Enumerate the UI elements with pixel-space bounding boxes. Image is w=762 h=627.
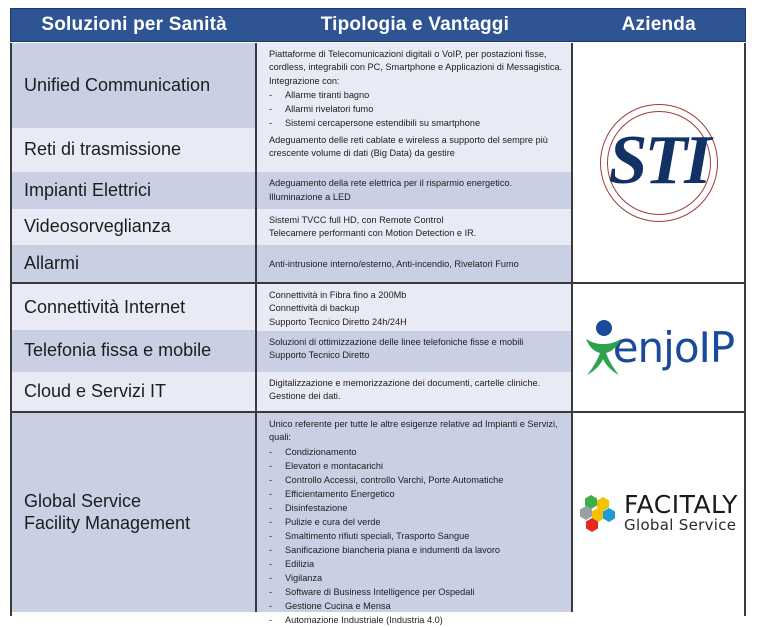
table-page: Soluzioni per Sanità Tipologia e Vantagg… — [0, 0, 762, 616]
description-column-enjoip: Connettività in Fibra fino a 200Mb Conne… — [257, 284, 573, 411]
description-text: Connettività in Fibra fino a 200Mb — [269, 289, 563, 302]
bullet-dash: - — [269, 586, 285, 600]
enjoip-logo-text: enjoIP — [613, 327, 735, 369]
description-telefonia-fissa-e-mobile: Soluzioni di ottimizzazione delle linee … — [257, 331, 571, 372]
header-cell-soluzioni: Soluzioni per Sanità — [11, 9, 257, 41]
table-group-sti: Unified Communication Reti di trasmissio… — [12, 43, 744, 284]
facitaly-subtitle: Global Service — [624, 518, 738, 533]
description-videosorveglianza: Sistemi TVCC full HD, con Remote Control… — [257, 209, 571, 246]
table-body: Unified Communication Reti di trasmissio… — [10, 43, 746, 616]
bullet-dash: - — [269, 516, 285, 530]
description-text: Supporto Tecnico Diretto — [269, 349, 563, 362]
table-header-row: Soluzioni per Sanità Tipologia e Vantagg… — [10, 8, 746, 42]
solutions-column-enjoip: Connettività Internet Telefonia fissa e … — [12, 284, 257, 411]
bullet-dash: - — [269, 89, 285, 103]
list-item: -Disinfestazione — [269, 502, 563, 516]
bullet-dash: - — [269, 103, 285, 117]
description-connettivita-internet: Connettività in Fibra fino a 200Mb Conne… — [257, 284, 571, 331]
solution-allarmi[interactable]: Allarmi — [12, 245, 255, 282]
bullet-dash: - — [269, 530, 285, 544]
description-text: Unico referente per tutte le altre esige… — [269, 418, 563, 445]
list-item: -Allarmi rivelatori fumo — [269, 103, 563, 117]
list-item: -Vigilanza — [269, 572, 563, 586]
list-item-label: Allarme tiranti bagno — [285, 89, 369, 103]
description-column-facitaly: Unico referente per tutte le altre esige… — [257, 413, 573, 612]
sti-logo-text: STI — [600, 104, 718, 222]
description-text: Gestione dei dati. — [269, 390, 563, 403]
list-item: -Sanificazione biancheria piana e indume… — [269, 544, 563, 558]
description-reti-di-trasmissione: Adeguamento delle reti cablate e wireles… — [257, 129, 571, 172]
description-text: Anti-intrusione interno/esterno, Anti-in… — [269, 258, 563, 271]
list-item: -Controllo Accessi, controllo Varchi, Po… — [269, 474, 563, 488]
solution-line-1: Global Service — [24, 491, 190, 512]
description-global-service: Unico referente per tutte le altre esige… — [257, 413, 571, 612]
list-item: -Edilizia — [269, 558, 563, 572]
list-item-label: Software di Business Intelligence per Os… — [285, 586, 474, 600]
solution-line-2: Facility Management — [24, 513, 190, 534]
list-item: -Software di Business Intelligence per O… — [269, 586, 563, 600]
list-item: -Efficientamento Energetico — [269, 488, 563, 502]
company-cell-enjoip: enjoIP — [573, 284, 744, 411]
list-item: -Smaltimento rifiuti speciali, Trasporto… — [269, 530, 563, 544]
solutions-column-sti: Unified Communication Reti di trasmissio… — [12, 43, 257, 282]
solution-connettivita-internet[interactable]: Connettività Internet — [12, 284, 255, 330]
list-item-label: Controllo Accessi, controllo Varchi, Por… — [285, 474, 503, 488]
description-text: Sistemi TVCC full HD, con Remote Control — [269, 214, 563, 227]
list-item-label: Gestione Cucina e Mensa — [285, 600, 391, 614]
bullet-dash: - — [269, 474, 285, 488]
bullet-dash: - — [269, 558, 285, 572]
bullet-dash: - — [269, 460, 285, 474]
description-bullet-list: -Allarme tiranti bagno -Allarmi rivelato… — [269, 89, 563, 131]
solutions-column-facitaly: Global Service Facility Management — [12, 413, 257, 612]
solution-videosorveglianza[interactable]: Videosorveglianza — [12, 209, 255, 246]
facitaly-hex-svg — [579, 494, 617, 532]
description-text: Adeguamento della rete elettrica per il … — [269, 177, 563, 204]
company-cell-sti: STI — [573, 43, 744, 282]
list-item: -Condizionamento — [269, 446, 563, 460]
bullet-dash: - — [269, 488, 285, 502]
list-item-label: Condizionamento — [285, 446, 357, 460]
solution-impianti-elettrici[interactable]: Impianti Elettrici — [12, 172, 255, 209]
description-bullet-list: -Condizionamento -Elevatori e montacaric… — [269, 446, 563, 627]
list-item: -Elevatori e montacarichi — [269, 460, 563, 474]
list-item-label: Edilizia — [285, 558, 314, 572]
table-group-enjoip: Connettività Internet Telefonia fissa e … — [12, 284, 744, 413]
bullet-dash: - — [269, 502, 285, 516]
facitaly-logo: FACITALY Global Service — [579, 492, 738, 533]
description-text: Soluzioni di ottimizzazione delle linee … — [269, 336, 563, 349]
description-allarmi: Anti-intrusione interno/esterno, Anti-in… — [257, 245, 571, 282]
list-item-label: Efficientamento Energetico — [285, 488, 395, 502]
description-unified-communication: Piattaforme di Telecomunicazioni digital… — [257, 43, 571, 129]
table-group-facitaly: Global Service Facility Management Unico… — [12, 413, 744, 612]
enjoip-person-svg — [583, 319, 623, 377]
list-item: -Pulizie e cura del verde — [269, 516, 563, 530]
solution-global-service-facility-management[interactable]: Global Service Facility Management — [12, 413, 255, 612]
description-column-sti: Piattaforme di Telecomunicazioni digital… — [257, 43, 573, 282]
header-cell-tipologia: Tipologia e Vantaggi — [257, 9, 572, 41]
list-item-label: Elevatori e montacarichi — [285, 460, 383, 474]
description-text: Telecamere performanti con Motion Detect… — [269, 227, 563, 240]
company-cell-facitaly: FACITALY Global Service — [573, 413, 744, 612]
solution-unified-communication[interactable]: Unified Communication — [12, 43, 255, 128]
sti-logo: STI — [600, 104, 718, 222]
solution-telefonia-fissa-e-mobile[interactable]: Telefonia fissa e mobile — [12, 330, 255, 371]
list-item-label: Disinfestazione — [285, 502, 347, 516]
list-item-label: Vigilanza — [285, 572, 322, 586]
description-text: Piattaforme di Telecomunicazioni digital… — [269, 48, 563, 88]
solution-cloud-e-servizi-it[interactable]: Cloud e Servizi IT — [12, 372, 255, 411]
enjoip-logo: enjoIP — [583, 317, 735, 379]
enjoip-person-icon — [583, 319, 623, 377]
facitaly-title: FACITALY — [624, 492, 738, 517]
bullet-dash: - — [269, 572, 285, 586]
list-item-label: Pulizie e cura del verde — [285, 516, 381, 530]
facitaly-logo-text: FACITALY Global Service — [624, 492, 738, 533]
bullet-dash: - — [269, 600, 285, 614]
description-cloud-e-servizi-it: Digitalizzazione e memorizzazione dei do… — [257, 372, 571, 411]
description-text: Adeguamento delle reti cablate e wireles… — [269, 134, 563, 161]
list-item: -Gestione Cucina e Mensa — [269, 600, 563, 614]
description-impianti-elettrici: Adeguamento della rete elettrica per il … — [257, 172, 571, 209]
list-item-label: Sanificazione biancheria piana e indumen… — [285, 544, 500, 558]
list-item-label: Smaltimento rifiuti speciali, Trasporto … — [285, 530, 469, 544]
facitaly-hexagon-cluster-icon — [579, 494, 617, 532]
solution-reti-di-trasmissione[interactable]: Reti di trasmissione — [12, 128, 255, 172]
description-text: Supporto Tecnico Diretto 24h/24H — [269, 316, 563, 329]
description-text: Connettività di backup — [269, 302, 563, 315]
list-item-label: Allarmi rivelatori fumo — [285, 103, 373, 117]
list-item: -Allarme tiranti bagno — [269, 89, 563, 103]
bullet-dash: - — [269, 544, 285, 558]
description-text: Digitalizzazione e memorizzazione dei do… — [269, 377, 563, 390]
bullet-dash: - — [269, 446, 285, 460]
header-cell-azienda: Azienda — [572, 9, 745, 41]
